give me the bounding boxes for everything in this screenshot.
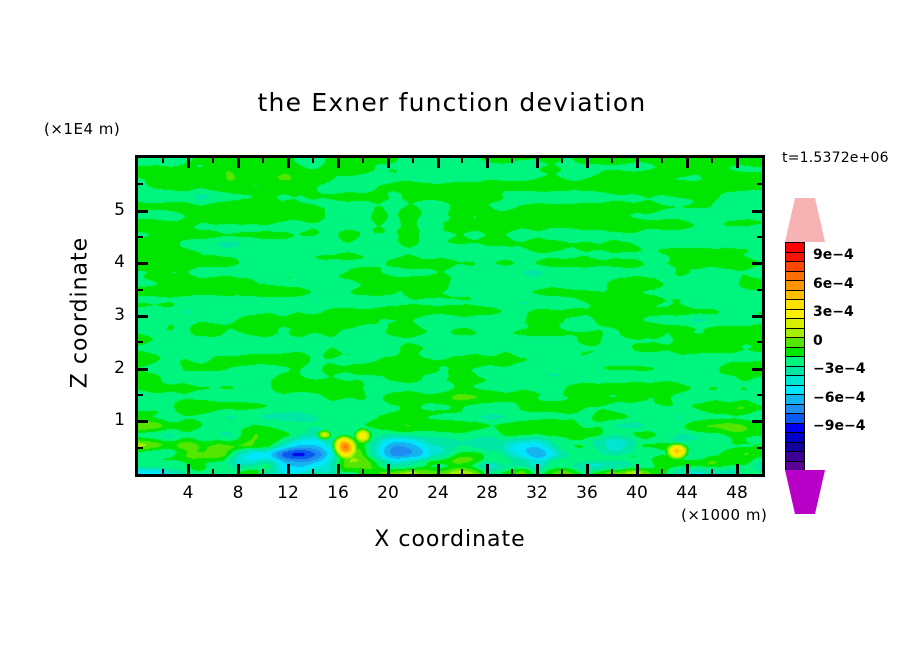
x-tick-18 xyxy=(362,469,364,474)
x-axis-unit-label: (×1000 m) xyxy=(681,506,767,524)
x-tick-28 xyxy=(486,464,489,474)
x-tick-38 xyxy=(611,469,613,474)
colorbar-segment-15 xyxy=(786,386,804,396)
x-tick-top-30 xyxy=(511,158,513,163)
colorbar-label-0: 9e−4 xyxy=(813,247,854,263)
contour-plot-area xyxy=(135,155,765,477)
timestamp-label: t=1.5372e+06 xyxy=(782,150,889,166)
x-tick-label-20: 20 xyxy=(368,483,408,503)
y-tick-5.5 xyxy=(138,183,143,185)
x-tick-10 xyxy=(262,469,264,474)
figure-canvas: the Exner function deviation (×1E4 m) (×… xyxy=(0,0,904,654)
colorbar-segment-19 xyxy=(786,424,804,434)
colorbar xyxy=(785,198,805,514)
y-tick-0.5 xyxy=(138,447,143,449)
x-tick-top-22 xyxy=(412,158,414,163)
y-tick-right-3.5 xyxy=(757,289,762,291)
y-tick-right-3 xyxy=(752,315,762,318)
x-tick-top-32 xyxy=(536,158,539,168)
colorbar-segment-13 xyxy=(786,367,804,377)
colorbar-segment-9 xyxy=(786,329,804,339)
x-tick-top-10 xyxy=(262,158,264,163)
y-tick-right-4 xyxy=(752,262,762,265)
colorbar-label-4: −3e−4 xyxy=(813,361,865,377)
x-tick-top-36 xyxy=(586,158,589,168)
colorbar-segments xyxy=(785,242,805,470)
x-tick-label-48: 48 xyxy=(717,483,757,503)
x-tick-top-16 xyxy=(337,158,340,168)
y-tick-3.5 xyxy=(138,289,143,291)
x-tick-top-38 xyxy=(611,158,613,163)
y-tick-label-1: 1 xyxy=(95,410,125,430)
x-tick-40 xyxy=(636,464,639,474)
colorbar-segment-11 xyxy=(786,348,804,358)
colorbar-segment-10 xyxy=(786,338,804,348)
x-tick-44 xyxy=(686,464,689,474)
x-tick-top-28 xyxy=(486,158,489,168)
x-tick-36 xyxy=(586,464,589,474)
x-tick-label-32: 32 xyxy=(517,483,557,503)
x-tick-label-44: 44 xyxy=(667,483,707,503)
y-tick-label-2: 2 xyxy=(95,358,125,378)
colorbar-segment-0 xyxy=(786,243,804,253)
x-tick-34 xyxy=(561,469,563,474)
colorbar-segment-5 xyxy=(786,291,804,301)
y-tick-right-1.5 xyxy=(757,394,762,396)
y-tick-2 xyxy=(138,368,148,371)
y-tick-right-5.5 xyxy=(757,183,762,185)
x-tick-label-40: 40 xyxy=(617,483,657,503)
x-tick-top-4 xyxy=(187,158,190,168)
x-tick-top-8 xyxy=(237,158,240,168)
x-tick-24 xyxy=(437,464,440,474)
y-tick-label-3: 3 xyxy=(95,305,125,325)
x-tick-6 xyxy=(212,469,214,474)
page-title: the Exner function deviation xyxy=(0,88,904,117)
x-tick-top-14 xyxy=(312,158,314,163)
x-tick-top-20 xyxy=(387,158,390,168)
x-tick-48 xyxy=(736,464,739,474)
y-tick-4.5 xyxy=(138,236,143,238)
colorbar-bottom-cap-icon xyxy=(785,470,825,514)
x-tick-14 xyxy=(312,469,314,474)
y-tick-right-0.5 xyxy=(757,447,762,449)
x-tick-32 xyxy=(536,464,539,474)
x-tick-26 xyxy=(461,469,463,474)
x-tick-22 xyxy=(412,469,414,474)
colorbar-segment-14 xyxy=(786,376,804,386)
y-tick-right-1 xyxy=(752,420,762,423)
y-tick-1.5 xyxy=(138,394,143,396)
x-tick-16 xyxy=(337,464,340,474)
x-tick-top-44 xyxy=(686,158,689,168)
x-tick-label-4: 4 xyxy=(168,483,208,503)
x-tick-top-46 xyxy=(711,158,713,163)
y-tick-right-2 xyxy=(752,368,762,371)
colorbar-label-5: −6e−4 xyxy=(813,390,865,406)
x-tick-12 xyxy=(287,464,290,474)
x-tick-30 xyxy=(511,469,513,474)
colorbar-segment-20 xyxy=(786,433,804,443)
colorbar-label-6: −9e−4 xyxy=(813,418,865,434)
x-tick-8 xyxy=(237,464,240,474)
x-tick-top-42 xyxy=(661,158,663,163)
x-tick-label-28: 28 xyxy=(467,483,507,503)
colorbar-top-cap-icon xyxy=(785,198,825,242)
colorbar-segment-22 xyxy=(786,452,804,462)
x-tick-4 xyxy=(187,464,190,474)
y-tick-5 xyxy=(138,210,148,213)
x-tick-label-36: 36 xyxy=(567,483,607,503)
colorbar-segment-1 xyxy=(786,253,804,263)
colorbar-segment-2 xyxy=(786,262,804,272)
y-tick-3 xyxy=(138,315,148,318)
x-tick-top-6 xyxy=(212,158,214,163)
x-tick-2 xyxy=(162,469,164,474)
y-tick-2.5 xyxy=(138,341,143,343)
x-tick-top-40 xyxy=(636,158,639,168)
y-tick-label-5: 5 xyxy=(95,200,125,220)
x-tick-42 xyxy=(661,469,663,474)
x-tick-top-26 xyxy=(461,158,463,163)
x-tick-label-16: 16 xyxy=(318,483,358,503)
x-tick-top-34 xyxy=(561,158,563,163)
x-tick-20 xyxy=(387,464,390,474)
colorbar-segment-12 xyxy=(786,357,804,367)
y-tick-1 xyxy=(138,420,148,423)
colorbar-segment-17 xyxy=(786,405,804,415)
y-tick-right-4.5 xyxy=(757,236,762,238)
colorbar-segment-4 xyxy=(786,281,804,291)
colorbar-segment-7 xyxy=(786,310,804,320)
x-tick-top-18 xyxy=(362,158,364,163)
colorbar-segment-16 xyxy=(786,395,804,405)
x-tick-label-12: 12 xyxy=(268,483,308,503)
colorbar-label-1: 6e−4 xyxy=(813,276,854,292)
x-tick-top-2 xyxy=(162,158,164,163)
y-tick-4 xyxy=(138,262,148,265)
contour-field xyxy=(138,158,762,474)
y-tick-label-4: 4 xyxy=(95,252,125,272)
colorbar-segment-3 xyxy=(786,272,804,282)
x-tick-top-48 xyxy=(736,158,739,168)
y-axis-unit-label: (×1E4 m) xyxy=(44,120,120,138)
x-tick-top-12 xyxy=(287,158,290,168)
x-tick-label-8: 8 xyxy=(218,483,258,503)
y-axis-title: Z coordinate xyxy=(68,213,93,413)
x-tick-top-24 xyxy=(437,158,440,168)
colorbar-segment-18 xyxy=(786,414,804,424)
colorbar-label-2: 3e−4 xyxy=(813,304,854,320)
colorbar-segment-8 xyxy=(786,319,804,329)
x-tick-46 xyxy=(711,469,713,474)
y-tick-right-2.5 xyxy=(757,341,762,343)
colorbar-label-3: 0 xyxy=(813,333,823,349)
x-axis-title: X coordinate xyxy=(135,527,765,552)
colorbar-segment-6 xyxy=(786,300,804,310)
y-tick-right-5 xyxy=(752,210,762,213)
colorbar-segment-21 xyxy=(786,443,804,453)
x-tick-label-24: 24 xyxy=(418,483,458,503)
